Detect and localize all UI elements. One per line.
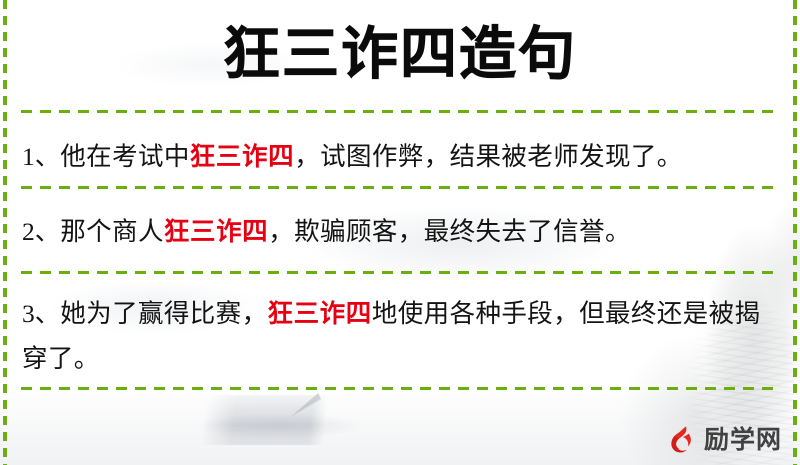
- red-swirl-flame-icon: [664, 423, 698, 457]
- sentence-number-1: 1、: [22, 142, 60, 171]
- idiom-highlight-1: 狂三诈四: [190, 142, 294, 171]
- watermark-logo: 励学网: [664, 423, 782, 457]
- sentence-number-2: 2、: [22, 217, 60, 246]
- sentence-text-after-1: ，试图作弊，结果被老师发现了。: [294, 142, 683, 171]
- idiom-highlight-3: 狂三诈四: [267, 299, 371, 328]
- page-root: 狂三诈四造句 1、他在考试中狂三诈四，试图作弊，结果被老师发现了。 2、那个商人…: [0, 0, 800, 465]
- sentence-list: 1、他在考试中狂三诈四，试图作弊，结果被老师发现了。 2、那个商人狂三诈四，欺骗…: [0, 0, 800, 465]
- sentence-text-after-2: ，欺骗顾客，最终失去了信誉。: [268, 217, 631, 246]
- watermark-label: 励学网: [704, 426, 782, 454]
- sentence-item-3: 3、她为了赢得比赛，狂三诈四地使用各种手段，但最终还是被揭穿了。: [22, 291, 774, 381]
- sentence-text-before-2: 那个商人: [60, 217, 164, 246]
- sentence-text-before-3: 她为了赢得比赛，: [60, 299, 267, 328]
- sentence-number-3: 3、: [22, 299, 60, 328]
- sentence-item-2: 2、那个商人狂三诈四，欺骗顾客，最终失去了信誉。: [22, 209, 778, 254]
- sentence-item-1: 1、他在考试中狂三诈四，试图作弊，结果被老师发现了。: [22, 134, 778, 179]
- idiom-highlight-2: 狂三诈四: [164, 217, 268, 246]
- sentence-text-before-1: 他在考试中: [60, 142, 190, 171]
